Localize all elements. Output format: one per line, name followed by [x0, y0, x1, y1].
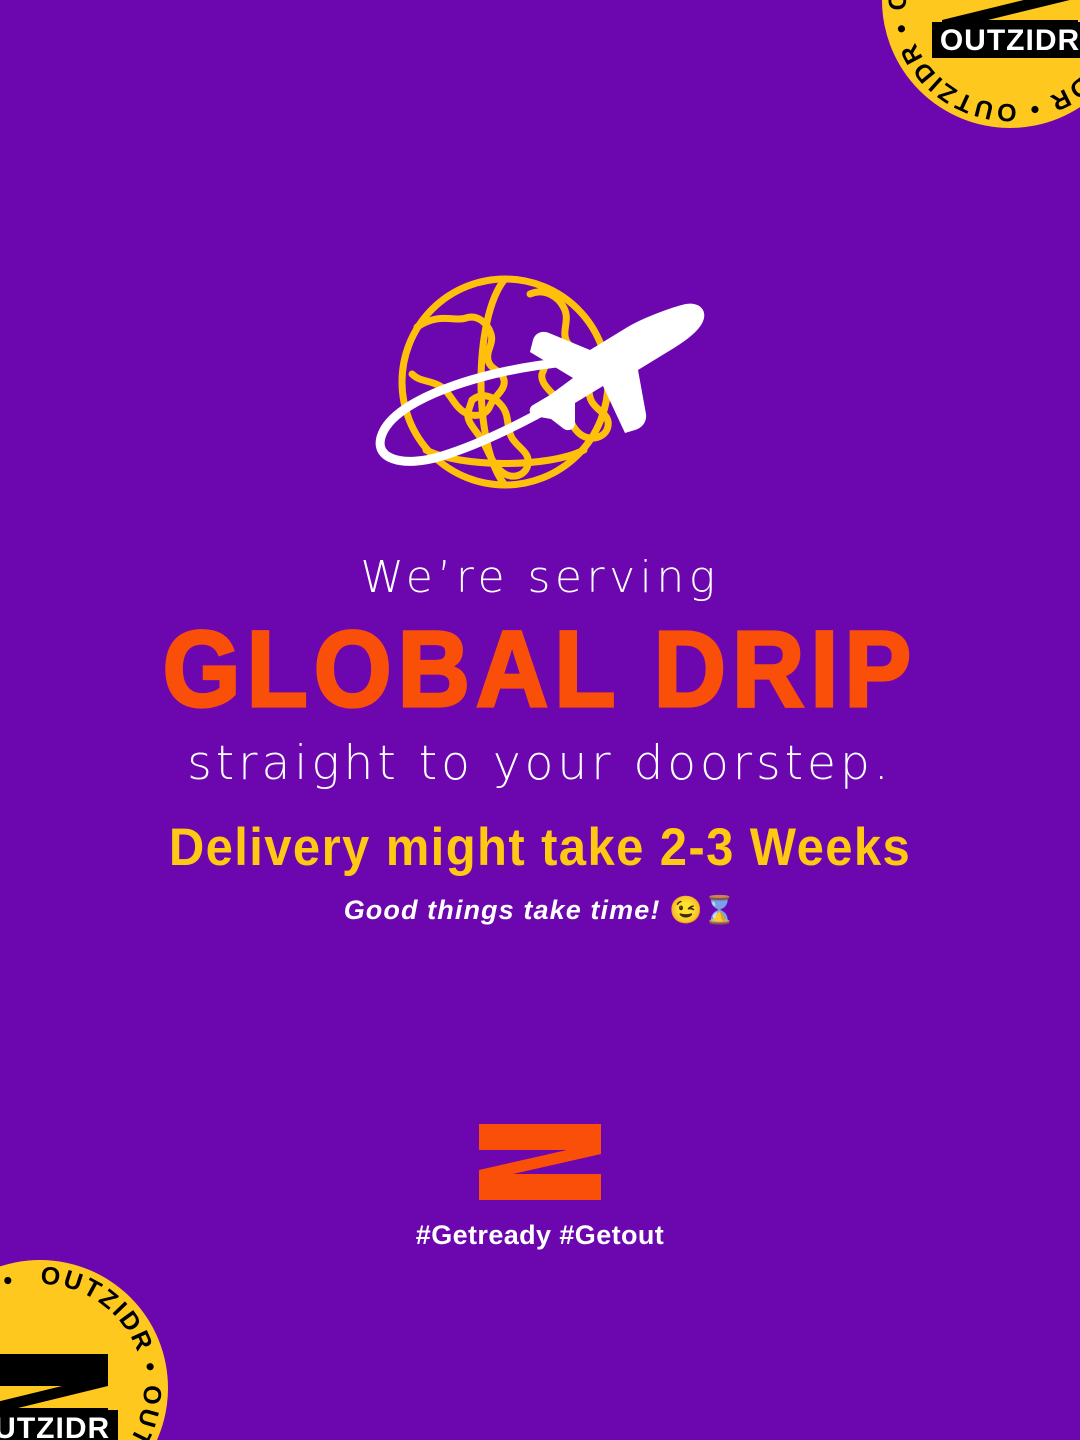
z-logo-shape	[479, 1124, 601, 1200]
badge-center-word: OUTZIDR	[940, 24, 1080, 57]
headline-line-1: We’re serving	[0, 552, 1080, 604]
headline-line-3: straight to your doorstep.	[0, 736, 1080, 791]
globe-airplane-emblem	[0, 272, 1080, 504]
delivery-sub-text: Good things take time!	[344, 895, 661, 925]
badge-center-word: OUTZIDR	[0, 1412, 110, 1440]
wink-hourglass-emoji: 😉⌛	[669, 895, 736, 925]
footer-block: #Getready #Getout	[0, 1122, 1080, 1251]
headline-block: We’re serving GLOBAL DRIP straight to yo…	[0, 552, 1080, 791]
delivery-notice-block: Delivery might take 2-3 Weeks Good thing…	[0, 822, 1080, 926]
airplane-icon	[530, 304, 705, 433]
outzidr-stamp-top-right: OUTZIDR • OUTZIDR • OUTZIDR • OUTZIDR • …	[880, 0, 1080, 130]
outzidr-stamp-bottom-left: OUTZIDR • OUTZIDR • OUTZIDR • OUTZIDR • …	[0, 1258, 170, 1440]
delivery-sub-line: Good things take time! 😉⌛	[0, 894, 1080, 926]
outzidr-z-logo	[477, 1122, 603, 1202]
poster-canvas: OUTZIDR • OUTZIDR • OUTZIDR • OUTZIDR • …	[0, 0, 1080, 1440]
headline-line-2: GLOBAL DRIP	[0, 614, 1080, 726]
hashtags-text: #Getready #Getout	[416, 1220, 664, 1251]
delivery-main-text: Delivery might take 2-3 Weeks	[0, 820, 1080, 878]
